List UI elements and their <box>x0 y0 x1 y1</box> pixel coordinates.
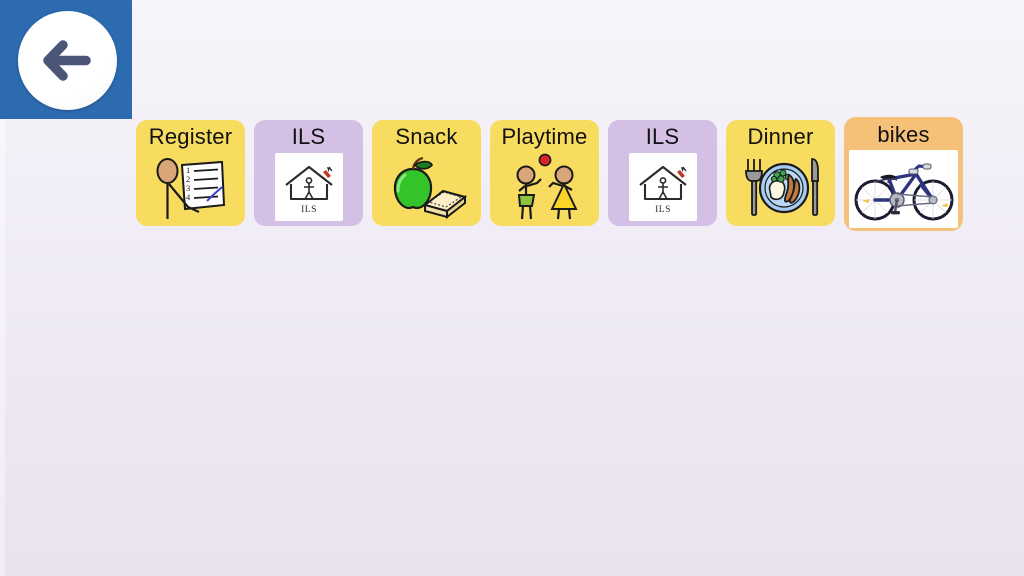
card-label: ILS <box>646 124 680 150</box>
card-media <box>490 150 599 226</box>
apple-and-sandwich-icon <box>385 153 469 221</box>
schedule-card-register[interactable]: Register 1 2 <box>136 120 245 226</box>
schedule-card-strip: Register 1 2 <box>136 120 963 231</box>
schedule-card-ils-2[interactable]: ILS <box>608 120 717 226</box>
back-button[interactable] <box>18 11 117 110</box>
two-children-with-ball-icon <box>501 153 589 221</box>
card-label: bikes <box>877 122 929 148</box>
symbol-tile: ILS <box>275 153 343 221</box>
symbol-tile: ILS <box>629 153 697 221</box>
schedule-card-dinner[interactable]: Dinner <box>726 120 835 226</box>
card-label: Playtime <box>502 124 588 150</box>
card-label: Register <box>149 124 233 150</box>
person-with-checklist-icon: 1 2 3 4 <box>152 153 230 221</box>
house-with-person-ils-icon: ILS <box>279 158 339 216</box>
card-media <box>844 148 963 231</box>
card-label: Snack <box>395 124 457 150</box>
bicycle-photo <box>849 152 958 226</box>
card-media: ILS <box>254 150 363 226</box>
card-label: Dinner <box>747 124 813 150</box>
schedule-card-snack[interactable]: Snack <box>372 120 481 226</box>
house-with-person-ils-icon: ILS <box>633 158 693 216</box>
schedule-card-bikes[interactable]: bikes <box>844 117 963 231</box>
dinner-plate-with-cutlery-icon <box>737 153 825 221</box>
photo-tile <box>849 150 958 228</box>
header-block <box>0 0 132 119</box>
card-media <box>372 150 481 226</box>
schedule-card-playtime[interactable]: Playtime <box>490 120 599 226</box>
card-label: ILS <box>292 124 326 150</box>
symbol-caption: ILS <box>301 205 317 215</box>
schedule-board-screen: Register 1 2 <box>0 0 1024 576</box>
card-media <box>726 150 835 226</box>
arrow-left-icon <box>18 11 117 110</box>
symbol-caption: ILS <box>655 205 671 215</box>
schedule-card-ils-1[interactable]: ILS <box>254 120 363 226</box>
card-media: 1 2 3 4 <box>136 150 245 226</box>
card-media: ILS <box>608 150 717 226</box>
ball-icon <box>539 154 550 165</box>
